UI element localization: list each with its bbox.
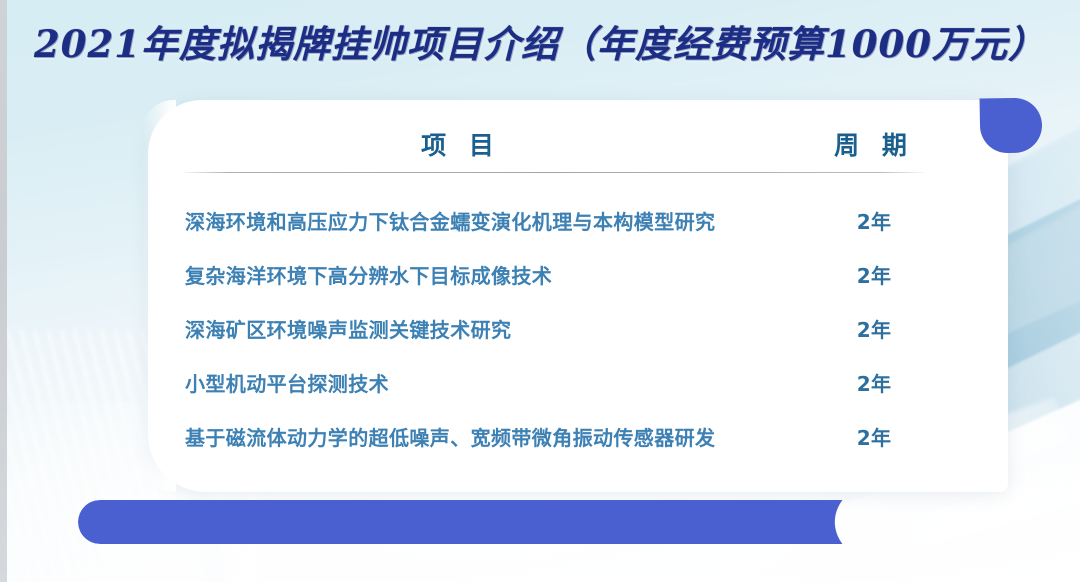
table-header-row: 项 目 周 期 bbox=[185, 126, 927, 170]
table-row: 复杂海洋环境下高分辨水下目标成像技术 2年 bbox=[185, 247, 927, 301]
table-header-project-label: 项 目 bbox=[421, 131, 501, 160]
bottom-accent-bar bbox=[78, 500, 890, 544]
project-table: 项 目 周 期 深海环境和高压应力下钛合金蠕变演化机理与本构模型研究 2年 复杂… bbox=[185, 126, 927, 463]
page-title: 2021年度拟揭牌挂帅项目介绍（年度经费预算1000万元） bbox=[34, 14, 1046, 68]
bottom-accent-bar-container bbox=[78, 500, 890, 544]
project-period: 2年 bbox=[821, 422, 927, 451]
table-header-period-label: 周 期 bbox=[834, 131, 914, 160]
project-name: 小型机动平台探测技术 bbox=[185, 368, 821, 397]
project-name: 基于磁流体动力学的超低噪声、宽频带微角振动传感器研发 bbox=[185, 422, 821, 451]
table-row: 深海矿区环境噪声监测关键技术研究 2年 bbox=[185, 301, 927, 355]
project-period: 2年 bbox=[821, 314, 927, 343]
table-row: 小型机动平台探测技术 2年 bbox=[185, 355, 927, 409]
blue-blob-decoration bbox=[980, 97, 1043, 153]
table-header-period-cell: 周 期 bbox=[821, 126, 927, 162]
project-period: 2年 bbox=[821, 368, 927, 397]
table-header-project-cell: 项 目 bbox=[185, 126, 821, 162]
project-period: 2年 bbox=[821, 206, 927, 235]
title-container: 2021年度拟揭牌挂帅项目介绍（年度经费预算1000万元） bbox=[0, 14, 1080, 68]
table-row: 基于磁流体动力学的超低噪声、宽频带微角振动传感器研发 2年 bbox=[185, 409, 927, 463]
left-edge-strip bbox=[0, 0, 7, 582]
project-name: 深海环境和高压应力下钛合金蠕变演化机理与本构模型研究 bbox=[185, 206, 821, 235]
slide-root: 2021年度拟揭牌挂帅项目介绍（年度经费预算1000万元） 项 目 周 期 深海… bbox=[0, 0, 1080, 582]
project-name: 复杂海洋环境下高分辨水下目标成像技术 bbox=[185, 260, 821, 289]
table-body: 深海环境和高压应力下钛合金蠕变演化机理与本构模型研究 2年 复杂海洋环境下高分辨… bbox=[185, 193, 927, 463]
table-row: 深海环境和高压应力下钛合金蠕变演化机理与本构模型研究 2年 bbox=[185, 193, 927, 247]
project-name: 深海矿区环境噪声监测关键技术研究 bbox=[185, 314, 821, 343]
project-period: 2年 bbox=[821, 260, 927, 289]
header-divider bbox=[185, 172, 925, 173]
